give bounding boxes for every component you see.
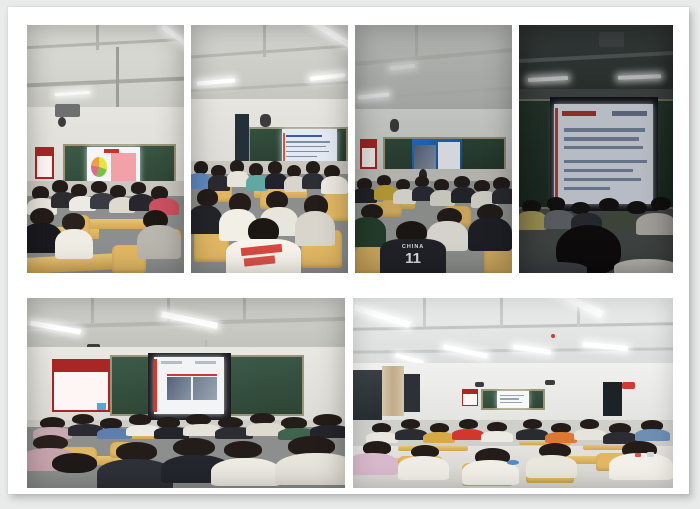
photo-5[interactable] <box>27 298 345 488</box>
photo-collage: CHINA 11 <box>27 25 673 488</box>
photo-6[interactable] <box>353 298 673 488</box>
chalkboard-right <box>221 355 304 416</box>
page-root: CHINA 11 <box>0 0 700 509</box>
projection-screen <box>154 357 224 414</box>
photo-3[interactable]: CHINA 11 <box>355 25 512 273</box>
projection-screen <box>554 104 653 203</box>
photo-1[interactable] <box>27 25 184 273</box>
photo-4[interactable] <box>519 25 673 273</box>
photo-2[interactable] <box>191 25 348 273</box>
photo-card: CHINA 11 <box>8 7 689 494</box>
jersey-number-text: 11 <box>390 251 437 266</box>
